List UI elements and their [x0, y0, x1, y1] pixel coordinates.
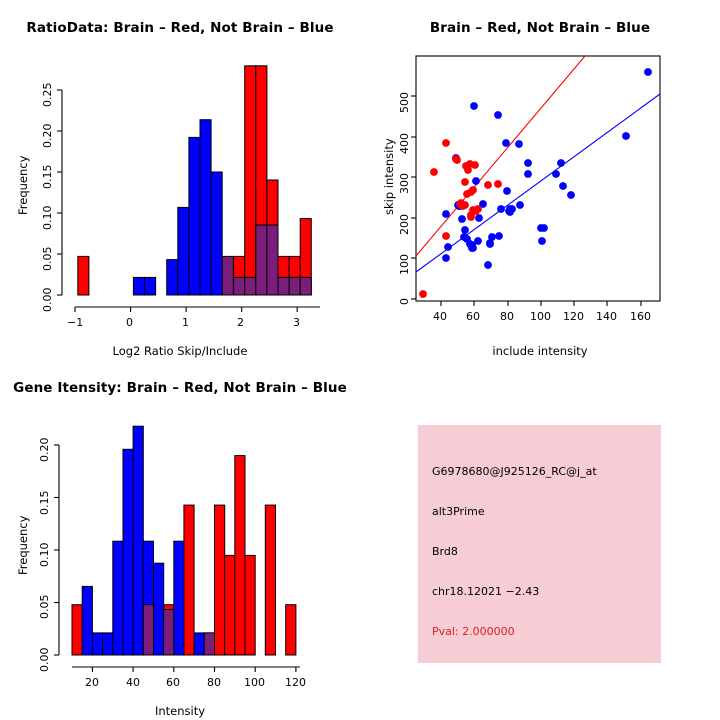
scatter-y-tick-3: 300 — [398, 173, 411, 194]
gene-histogram-y-axis — [54, 445, 59, 655]
scatter-x-tick-4: 120 — [563, 310, 584, 323]
scatter-y-tick-5: 500 — [398, 92, 411, 113]
scatter-x-tick-3: 100 — [530, 310, 551, 323]
scatter-x-tick-2: 80 — [500, 310, 514, 323]
pval-text: Pval: 2.000000 — [432, 625, 515, 638]
gene-name-text: Brd8 — [432, 545, 458, 558]
ratio-y-tick-4: 0.20 — [41, 124, 54, 149]
ratio-histogram-bars — [78, 66, 312, 295]
locus-text: chr18.12021 −2.43 — [432, 585, 539, 598]
ratio-histogram-x-axis — [75, 307, 320, 312]
ratio-x-tick-1: 0 — [126, 316, 133, 329]
probe-id-text: G6978680@J925126_RC@j_at — [432, 465, 597, 478]
gene-x-tick-4: 100 — [244, 676, 265, 689]
scatter-y-tick-4: 400 — [398, 133, 411, 154]
ratio-x-tick-4: 3 — [293, 316, 300, 329]
gene-histogram-xlabel: Intensity — [0, 704, 360, 718]
not-brain-fit-line — [416, 94, 660, 272]
gene-y-tick-4: 0.20 — [38, 438, 51, 463]
r-plot-canvas: RatioData: Brain – Red, Not Brain – Blue… — [0, 0, 720, 720]
ratio-histogram-plot — [0, 0, 360, 330]
gene-x-tick-0: 20 — [85, 676, 99, 689]
scatter-x-tick-0: 40 — [433, 310, 447, 323]
scatter-x-tick-6: 160 — [630, 310, 651, 323]
gene-x-tick-2: 60 — [166, 676, 180, 689]
gene-x-tick-5: 120 — [285, 676, 306, 689]
ratio-y-tick-1: 0.05 — [41, 247, 54, 272]
gene-x-tick-3: 80 — [207, 676, 221, 689]
gene-y-tick-1: 0.05 — [38, 595, 51, 620]
scatter-y-tick-0: 0 — [398, 298, 411, 305]
scatter-y-axis — [411, 96, 416, 299]
panel-scatter: Brain – Red, Not Brain – Blue skip inten… — [360, 0, 720, 360]
ratio-x-tick-3: 2 — [237, 316, 244, 329]
gene-y-tick-3: 0.15 — [38, 491, 51, 516]
scatter-x-tick-1: 60 — [466, 310, 480, 323]
gene-histogram-x-axis — [72, 667, 300, 672]
ratio-x-tick-0: −1 — [67, 316, 83, 329]
brain-fit-line — [416, 56, 585, 256]
panel-gene-histogram: Gene Itensity: Brain – Red, Not Brain – … — [0, 360, 360, 720]
event-type-text: alt3Prime — [432, 505, 485, 518]
gene-histogram-plot — [0, 360, 360, 690]
scatter-plot-box — [416, 56, 660, 301]
gene-info-panel: G6978680@J925126_RC@j_at alt3Prime Brd8 … — [418, 425, 661, 663]
scatter-x-tick-5: 140 — [596, 310, 617, 323]
ratio-y-tick-0: 0.00 — [41, 288, 54, 313]
ratio-histogram-y-axis — [57, 90, 62, 295]
scatter-y-tick-1: 100 — [398, 254, 411, 275]
gene-y-tick-0: 0.00 — [38, 648, 51, 673]
gene-y-tick-2: 0.10 — [38, 543, 51, 568]
ratio-histogram-xlabel: Log2 Ratio Skip/Include — [0, 344, 360, 358]
scatter-xlabel: include intensity — [360, 344, 720, 358]
scatter-y-tick-2: 200 — [398, 214, 411, 235]
ratio-y-tick-3: 0.15 — [41, 165, 54, 190]
scatter-fit-lines — [416, 56, 660, 272]
ratio-y-tick-2: 0.10 — [41, 206, 54, 231]
gene-histogram-bars — [72, 426, 296, 655]
panel-ratio-histogram: RatioData: Brain – Red, Not Brain – Blue… — [0, 0, 360, 360]
scatter-plot — [360, 0, 720, 330]
ratio-y-tick-5: 0.25 — [41, 83, 54, 108]
ratio-x-tick-2: 1 — [182, 316, 189, 329]
scatter-x-axis — [441, 301, 641, 306]
gene-x-tick-1: 40 — [126, 676, 140, 689]
